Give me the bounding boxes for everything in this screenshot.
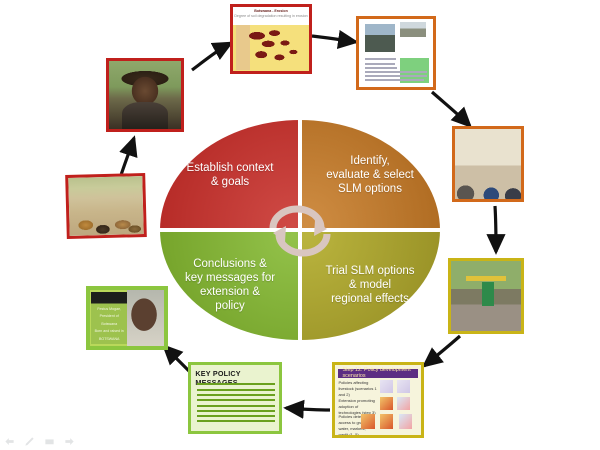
booklet-overlay-line2: President of Botswana <box>93 313 126 328</box>
playpump-image <box>451 261 521 331</box>
map-subcaption: Degree of soil degradation resulting in … <box>233 14 309 19</box>
document-photo-small <box>400 22 427 37</box>
policy-slide-title: Step 12: Policy development scenarios <box>338 369 417 378</box>
policy-slide-chart-3 <box>399 414 413 429</box>
booklet-overlay-line4: BOTSWANA <box>93 336 126 344</box>
node-botswana-erosion-map[interactable]: Botswana - Erosion Degree of soil degrad… <box>230 4 312 74</box>
bottom-toolbar[interactable] <box>4 436 75 447</box>
node-stakeholder-workshop-photo[interactable] <box>452 126 524 202</box>
map-body <box>236 25 306 70</box>
booklet-overlay-text: Festus Mogae, President of Botswana Born… <box>93 306 126 344</box>
connector-workshop-to-pump <box>495 206 496 252</box>
quadrant-identify-line2: evaluate & select <box>316 168 424 182</box>
booklet-portrait <box>127 290 164 346</box>
policy-slide-chart-1 <box>361 414 375 429</box>
connector-portrait-to-map <box>192 43 231 70</box>
connector-map-to-document <box>312 36 356 42</box>
rectangle-icon[interactable] <box>44 436 55 447</box>
map-title-band: Botswana - Erosion Degree of soil degrad… <box>233 7 309 25</box>
policy-slide-swatch-1 <box>380 380 393 393</box>
booklet-overlay-line1: Festus Mogae, <box>93 306 126 314</box>
node-farmer-portrait-photo[interactable] <box>106 58 184 132</box>
quadrant-establish-context-line1: Establish context <box>177 161 284 175</box>
document-photo-large <box>365 24 395 51</box>
connector-pump-to-slide <box>424 336 460 366</box>
policy-slide-chart-2 <box>380 414 394 429</box>
booklet-image: Festus Mogae, President of Botswana Born… <box>90 290 164 346</box>
map-image: Botswana - Erosion Degree of soil degrad… <box>233 7 309 71</box>
quadrant-identify-line3: SLM options <box>316 182 424 196</box>
quadrant-trial-line1: Trial SLM options <box>315 264 424 278</box>
quadrant-trial-line3: regional effects <box>315 292 424 306</box>
node-playpump-water-point-photo[interactable] <box>448 258 524 334</box>
farmer-portrait-image <box>109 61 181 129</box>
quadrant-trial-line2: & model <box>315 278 424 292</box>
cattle-kraal-image <box>68 176 143 236</box>
connector-slide-to-keymsg <box>286 408 330 410</box>
workshop-image <box>455 129 521 199</box>
key-policy-messages-image: KEY POLICY MESSAGES <box>191 365 279 431</box>
circular-arrows-icon <box>263 198 337 262</box>
slm-cycle-wheel: Establish context & goals Identify, eval… <box>160 120 440 340</box>
pencil-icon[interactable] <box>24 436 35 447</box>
policy-slide-swatch-4 <box>397 397 410 410</box>
booklet-overlay-line3: Born and raised in <box>93 328 126 336</box>
arrow-left-icon[interactable] <box>4 436 15 447</box>
quadrant-conclusions-line4: policy <box>175 299 285 313</box>
quadrant-conclusions-line2: key messages for <box>175 271 285 285</box>
policy-slide-swatch-3 <box>380 397 393 410</box>
document-image <box>359 19 433 87</box>
node-key-policy-messages-panel[interactable]: KEY POLICY MESSAGES <box>188 362 282 434</box>
node-extension-booklet-photo[interactable]: Festus Mogae, President of Botswana Born… <box>86 286 168 350</box>
policy-slide-row-label-1: Policies affecting livestock (scenarios … <box>338 380 378 398</box>
quadrant-establish-context-line2: & goals <box>177 175 284 189</box>
connector-cattle-to-portrait <box>120 138 134 178</box>
diagram-canvas: Establish context & goals Identify, eval… <box>0 0 600 450</box>
quadrant-conclusions-line3: extension & <box>175 285 285 299</box>
node-field-report-document[interactable] <box>356 16 436 90</box>
node-cattle-kraal-photo[interactable] <box>65 173 147 239</box>
quadrant-identify-line1: Identify, <box>316 154 424 168</box>
policy-slide-image: Step 12: Policy development scenarios Po… <box>335 365 421 435</box>
policy-slide-swatch-2 <box>397 380 410 393</box>
node-policy-development-scenarios-slide[interactable]: Step 12: Policy development scenarios Po… <box>332 362 424 438</box>
arrow-right-icon[interactable] <box>64 436 75 447</box>
